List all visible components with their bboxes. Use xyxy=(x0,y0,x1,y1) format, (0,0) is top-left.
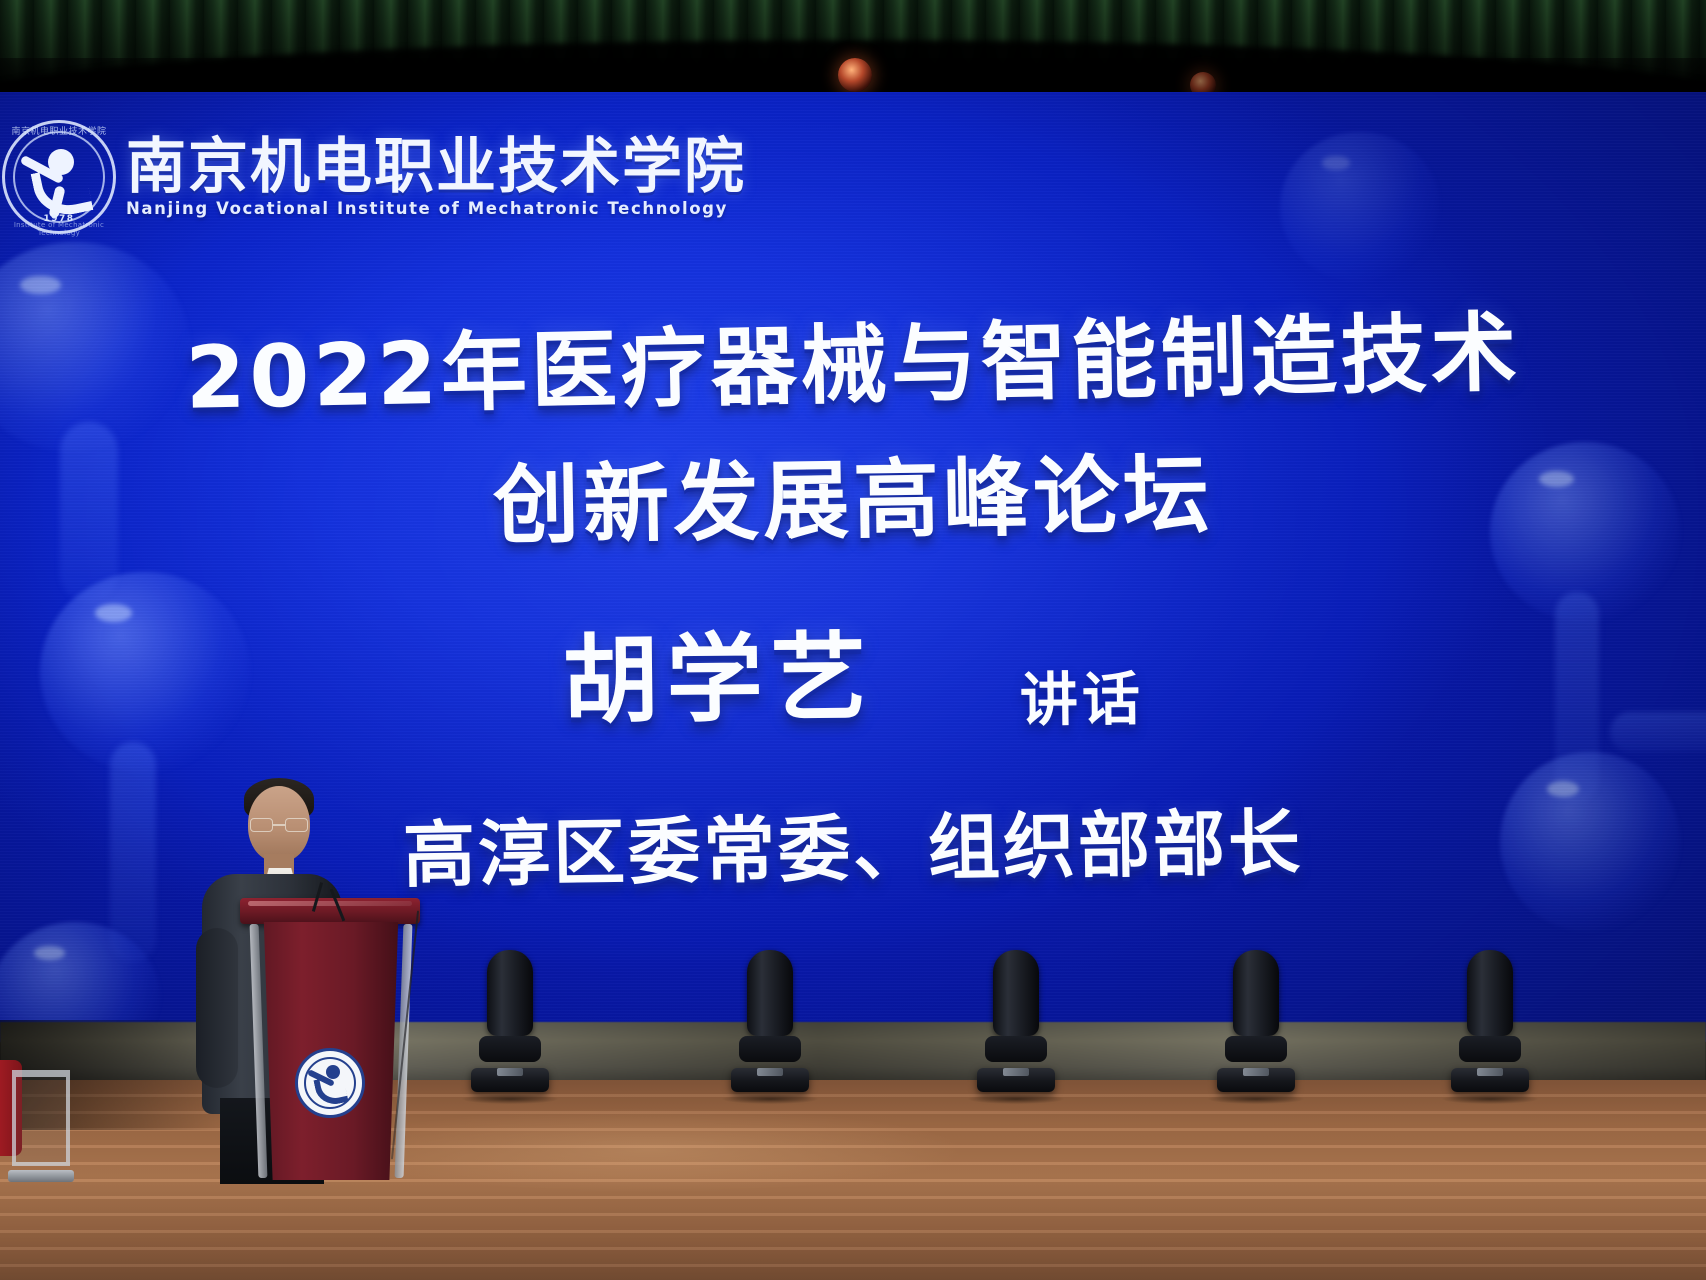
podium-school-emblem-icon xyxy=(295,1048,365,1118)
institution-name-cn: 南京机电职业技术学院 xyxy=(126,137,746,197)
decor-node xyxy=(1280,132,1440,282)
stage-photo: 南京机电职业技术学院 1978 Institute of Mechatronic… xyxy=(0,0,1706,1280)
emblem-arc-text-cn: 南京机电职业技术学院 xyxy=(0,124,118,137)
event-title-line-2: 创新发展高峰论坛 xyxy=(0,417,1706,569)
institution-name-en: Nanjing Vocational Institute of Mechatro… xyxy=(126,201,746,218)
moving-head-light xyxy=(968,950,1064,1104)
speaker-name: 胡学艺 xyxy=(562,600,875,742)
ceiling-lamp-icon xyxy=(838,58,872,92)
emblem-arc-text-en: Institute of Mechatronic Technology xyxy=(0,221,118,237)
moving-head-light xyxy=(1442,950,1538,1104)
eyeglasses-icon xyxy=(250,818,308,832)
speaking-podium xyxy=(250,898,410,1180)
moving-head-light xyxy=(462,950,558,1104)
school-emblem-icon: 南京机电职业技术学院 1978 Institute of Mechatronic… xyxy=(0,118,118,236)
side-stand xyxy=(8,1070,74,1182)
speaker-name-row: 胡学艺 讲话 xyxy=(0,591,1706,748)
institution-logo: 南京机电职业技术学院 1978 Institute of Mechatronic… xyxy=(0,118,746,236)
moving-head-light xyxy=(722,950,818,1104)
moving-head-light xyxy=(1208,950,1304,1104)
speaker-action: 讲话 xyxy=(1019,652,1144,737)
